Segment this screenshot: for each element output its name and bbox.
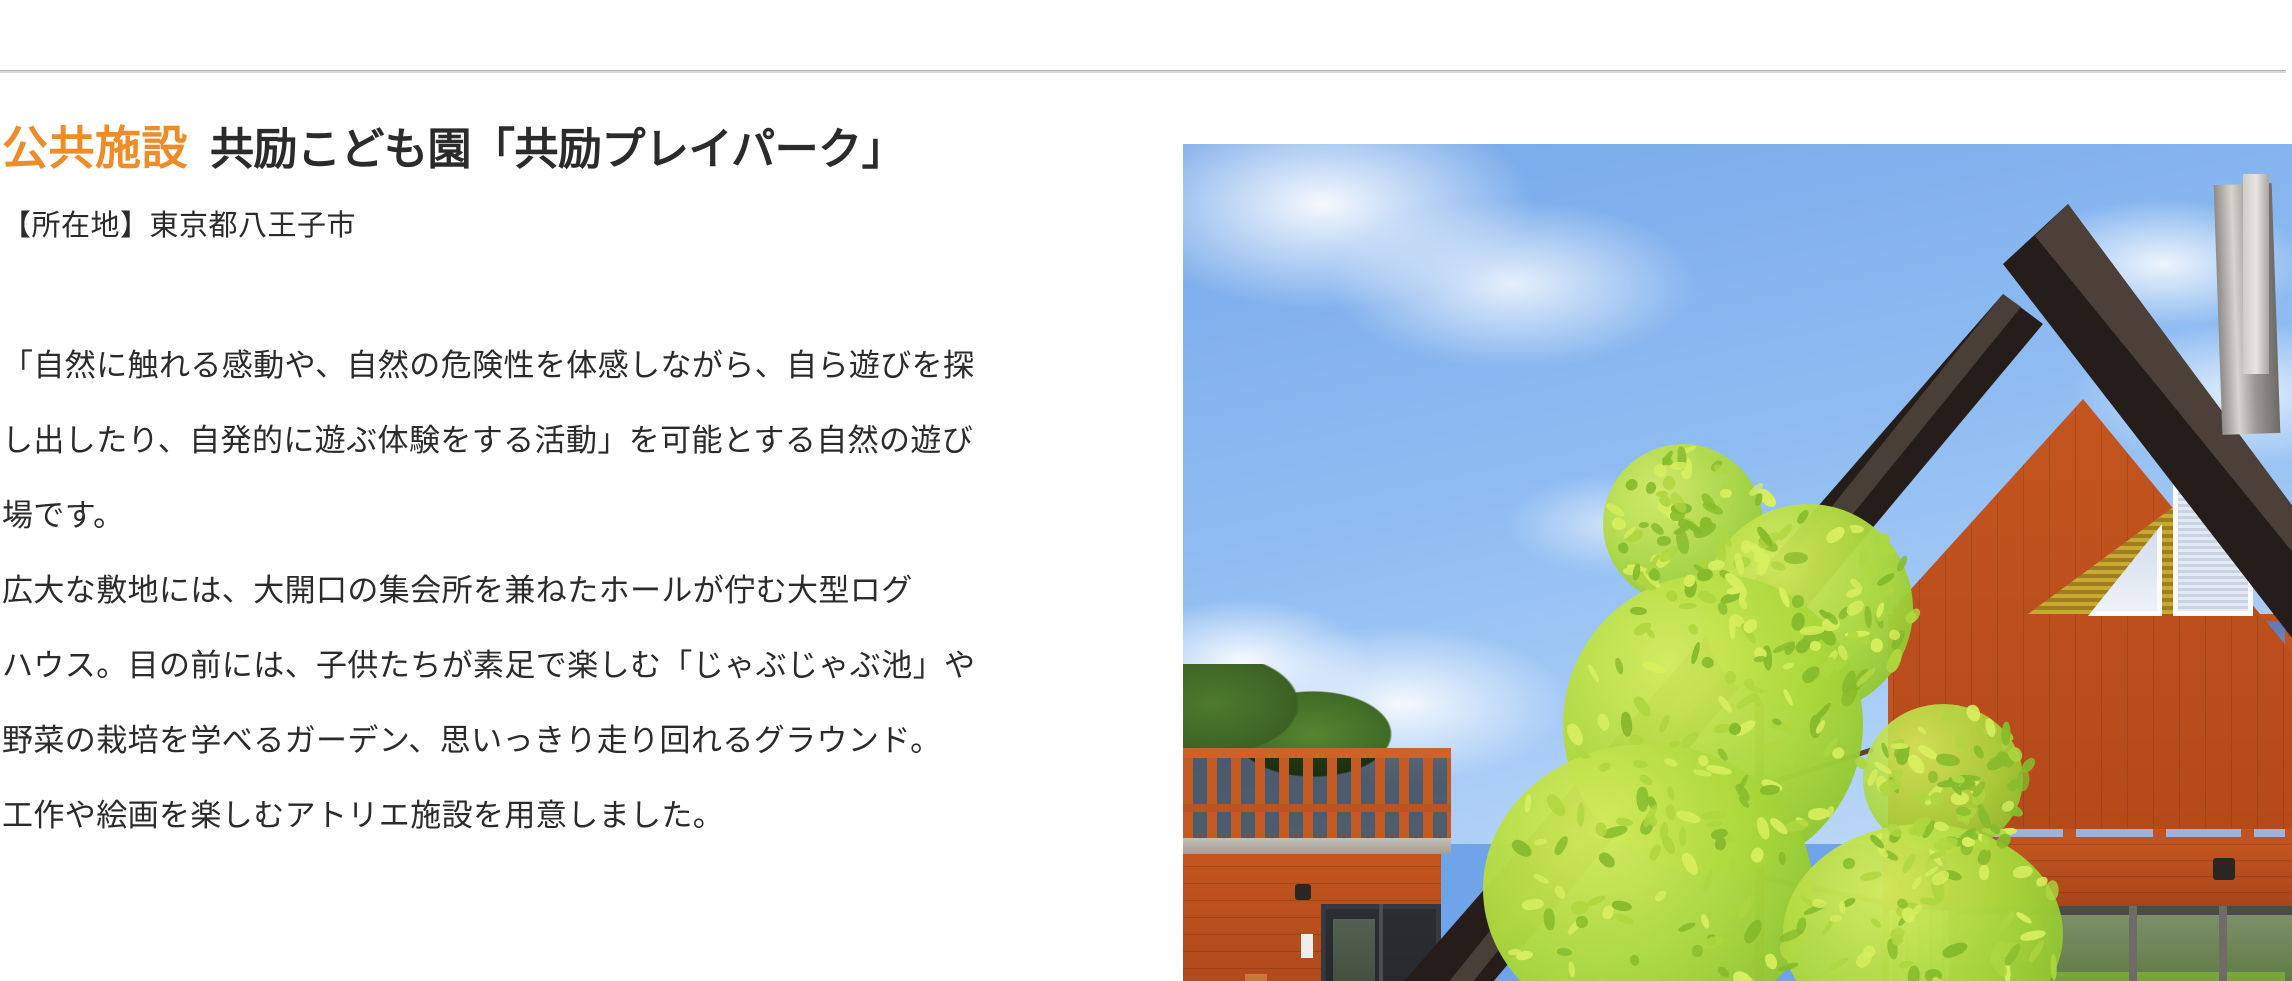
description-line: 「自然に触れる感動や、自然の危険性を体感しながら、自ら遊びを探 xyxy=(2,328,1135,403)
top-divider-shadow xyxy=(0,71,2286,73)
facility-page: 公共施設 共励こども園「共励プレイパーク」 【所在地】東京都八王子市 「自然に触… xyxy=(0,0,2292,981)
description-line: し出したり、自発的に遊ぶ体験をする活動」を可能とする自然の遊び xyxy=(2,403,1135,478)
photo-tree-leaf xyxy=(1978,863,1989,880)
photo-entry-mullion xyxy=(1379,904,1383,981)
photo-door-frame xyxy=(2129,906,2137,981)
facility-name: 共励こども園「共励プレイパーク」 xyxy=(210,127,905,173)
facility-description: 「自然に触れる感動や、自然の危険性を体感しながら、自ら遊びを探 し出したり、自発… xyxy=(2,328,1135,853)
photo-wall-lamp xyxy=(2213,858,2235,880)
description-line: 工作や絵画を楽しむアトリエ施設を用意しました。 xyxy=(2,778,1135,853)
photo-tree-leaf xyxy=(1724,671,1735,684)
photo-balcony-railing xyxy=(1183,752,1451,838)
photo-wall-plate xyxy=(1301,934,1313,958)
page-title: 公共施設 共励こども園「共励プレイパーク」 xyxy=(2,96,1135,173)
description-line: 野菜の栽培を学べるガーデン、思いっきり走り回れるグラウンド。 xyxy=(2,703,1135,778)
facility-photo xyxy=(1183,144,2292,981)
photo-roof-finial xyxy=(2243,174,2269,374)
photo-wall-lamp xyxy=(1295,884,1311,900)
description-line: ハウス。目の前には、子供たちが素足で楽しむ「じゃぶじゃぶ池」や xyxy=(2,628,1135,703)
photo-tree-leaf xyxy=(1679,827,1686,846)
photo-storage-door xyxy=(1245,974,1267,981)
facility-location: 【所在地】東京都八王子市 xyxy=(2,209,1135,244)
photo-railing-mid-rail xyxy=(1183,804,1451,812)
photo-tree-leaf xyxy=(1870,638,1883,652)
description-line: 広大な敷地には、大開口の集会所を兼ねたホールが佇む大型ログ xyxy=(2,553,1135,628)
category-tag-public-facility: 公共施設 xyxy=(2,124,188,172)
photo-door-frame xyxy=(2219,906,2227,981)
photo-tree-leaf xyxy=(1662,475,1675,490)
description-line: 場です。 xyxy=(2,478,1135,553)
photo-entry-glass xyxy=(1333,919,1375,981)
facility-text-column: 公共施設 共励こども園「共励プレイパーク」 【所在地】東京都八王子市 「自然に触… xyxy=(0,96,1135,956)
photo-tree-leaf xyxy=(1940,713,1952,721)
photo-railing-top-rail xyxy=(1183,748,1451,758)
photo-tree-leaf xyxy=(1670,462,1690,470)
photo-tree-leaf xyxy=(1639,522,1649,528)
